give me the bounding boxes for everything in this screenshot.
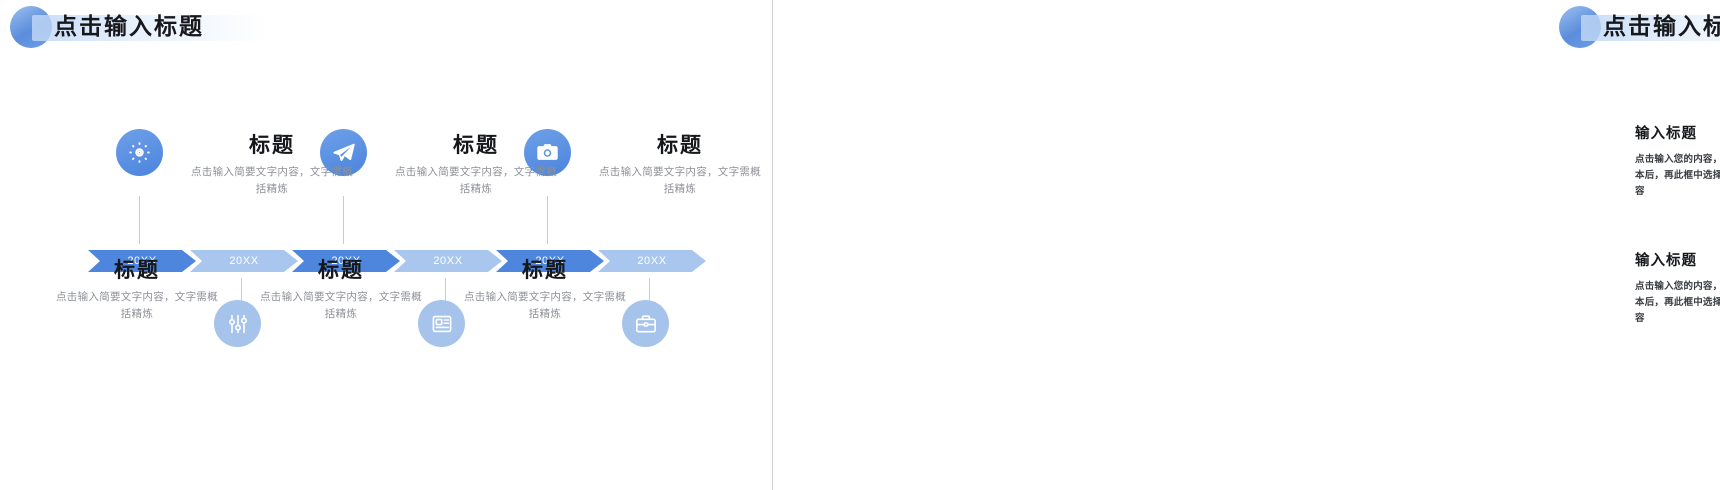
quadrant-text-3: 输入标题 点击输入您的内容，或者通过复制您的文本后，再此框中选择粘贴点击输入您的… [1635,250,1720,327]
left-page-title: 点击输入标题 [54,10,204,42]
item-body: 点击输入简要文字内容，文字需概括精炼 [188,164,356,198]
item-heading: 标题 [596,133,764,159]
timeline-top-item-2: 标题 点击输入简要文字内容，文字需概括精炼 [392,133,560,198]
gear-icon[interactable] [116,129,163,176]
connector-line [139,196,140,244]
chevron-label: 20XX [229,255,258,267]
item-heading: 标题 [257,258,425,284]
item-heading: 标题 [392,133,560,159]
timeline-bottom-item-2: 标题 点击输入简要文字内容，文字需概括精炼 [257,258,425,323]
slide-left: 点击输入标题 标题 点击输入简要文字内容，文 [0,0,772,490]
quadrant-body: 点击输入您的内容，或者通过复制您的文本后，再此框中选择粘贴点击输入您的内容 [1635,152,1720,200]
chevron-label: 20XX [433,255,462,267]
chevron-label: 20XX [637,255,666,267]
connector-line [547,196,548,244]
item-body: 点击输入简要文字内容，文字需概括精炼 [461,289,629,323]
right-page-title: 点击输入标题 [1603,10,1720,42]
timeline-top-item-1: 标题 点击输入简要文字内容，文字需概括精炼 [188,133,356,198]
connector-line [343,196,344,244]
presentation-canvas: 点击输入标题 标题 点击输入简要文字内容，文 [0,0,1720,490]
quadrant-text-1: 输入标题 点击输入您的内容，或者通过复制您的文本后，再此框中选择粘贴点击输入您的… [1635,123,1720,200]
quadrant-heading: 输入标题 [1635,123,1720,145]
sliders-icon[interactable] [214,300,261,347]
item-body: 点击输入简要文字内容，文字需概括精炼 [257,289,425,323]
timeline-bottom-item-3: 标题 点击输入简要文字内容，文字需概括精炼 [461,258,629,323]
quadrant-body: 点击输入您的内容，或者通过复制您的文本后，再此框中选择粘贴点击输入您的内容 [1635,279,1720,327]
item-heading: 标题 [53,258,221,284]
item-body: 点击输入简要文字内容，文字需概括精炼 [596,164,764,198]
newspaper-icon[interactable] [418,300,465,347]
item-body: 点击输入简要文字内容，文字需概括精炼 [392,164,560,198]
briefcase-icon[interactable] [622,300,669,347]
timeline-bottom-item-1: 标题 点击输入简要文字内容，文字需概括精炼 [53,258,221,323]
slide-right: 点击输入标题 输入标题 点击输入您的内容，或者通过复制您的文本后，再此框中选择粘… [773,0,1720,490]
quadrant-heading: 输入标题 [1635,250,1720,272]
item-body: 点击输入简要文字内容，文字需概括精炼 [53,289,221,323]
item-heading: 标题 [461,258,629,284]
item-heading: 标题 [188,133,356,159]
timeline-top-item-3: 标题 点击输入简要文字内容，文字需概括精炼 [596,133,764,198]
